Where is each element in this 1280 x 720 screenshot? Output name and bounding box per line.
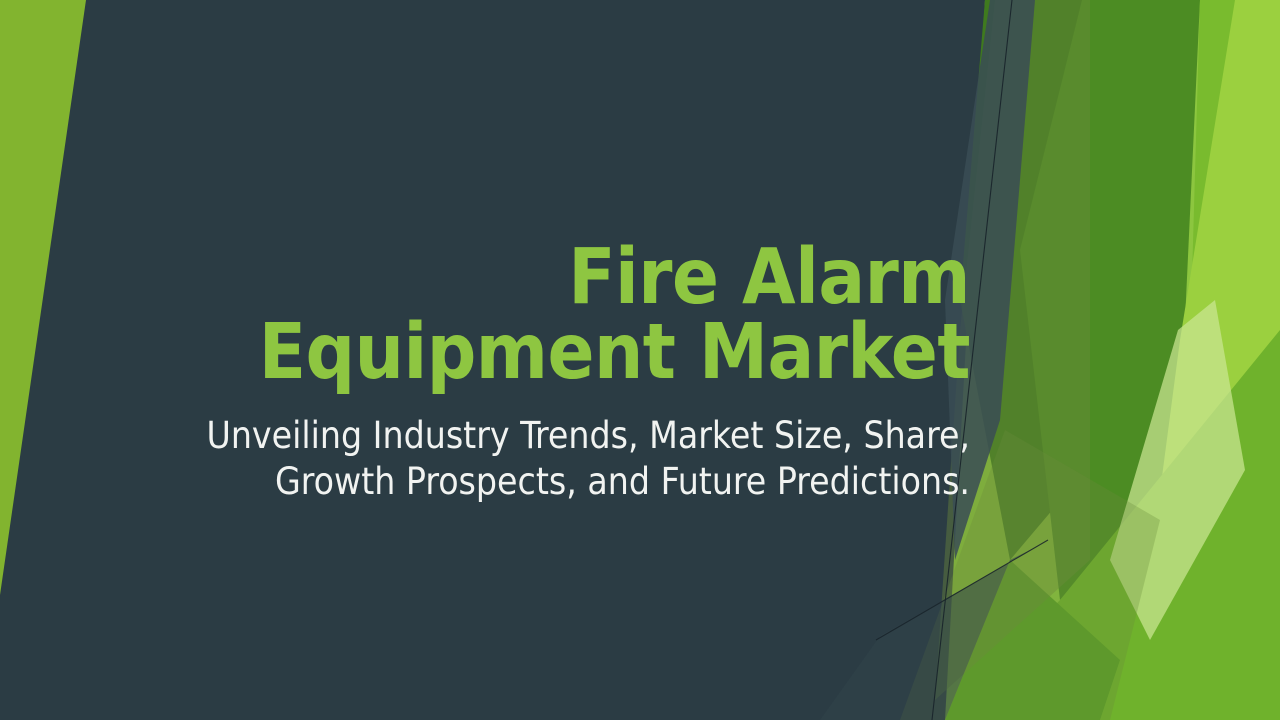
title-text-block: Fire Alarm Equipment Market Unveiling In… xyxy=(190,240,970,505)
page-subtitle: Unveiling Industry Trends, Market Size, … xyxy=(190,413,970,506)
page-title: Fire Alarm Equipment Market xyxy=(190,240,970,391)
title-slide: Fire Alarm Equipment Market Unveiling In… xyxy=(0,0,1280,720)
